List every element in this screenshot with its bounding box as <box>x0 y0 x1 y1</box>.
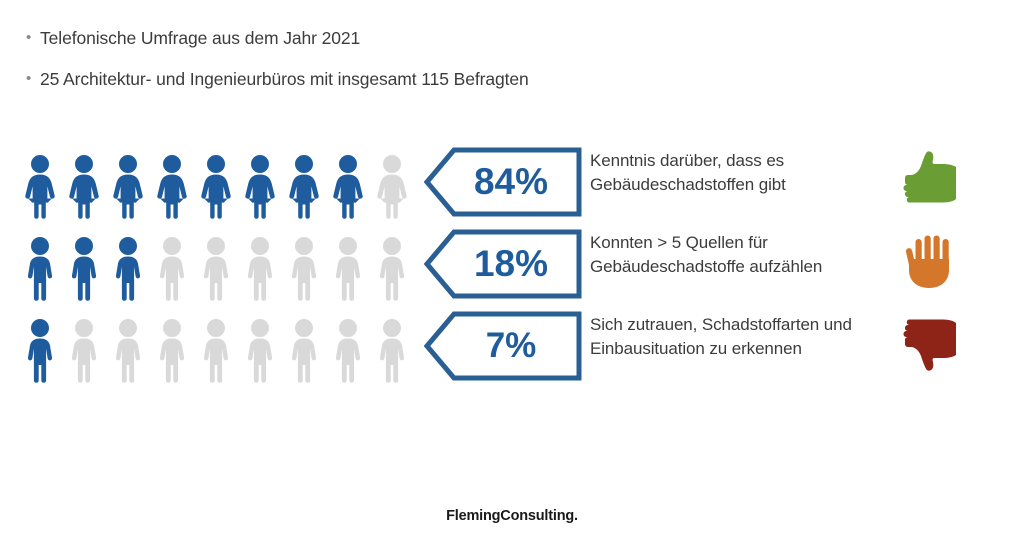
footer-logo: FlemingConsulting. <box>0 508 1024 524</box>
percentage-callout: 84% <box>424 147 582 217</box>
person-icon-filled <box>66 236 102 302</box>
thumbs-down-icon <box>898 308 970 380</box>
raised-hand-icon <box>898 226 970 298</box>
row-description: Konnten > 5 Quellen für Gebäudeschadstof… <box>590 231 890 279</box>
description-line: Konnten > 5 Quellen für <box>590 231 890 255</box>
person-icon-empty <box>242 236 278 302</box>
thumbs-up-glyph <box>898 144 970 216</box>
person-icon-filled <box>110 154 146 220</box>
percentage-value: 84% <box>450 147 572 217</box>
male-figure-glyph <box>286 236 322 302</box>
person-icon-empty <box>198 318 234 384</box>
female-figure-glyph <box>198 154 234 220</box>
male-figure-glyph <box>22 236 58 302</box>
male-figure-glyph <box>154 236 190 302</box>
person-icon-empty <box>154 318 190 384</box>
list-item: • Telefonische Umfrage aus dem Jahr 2021 <box>26 27 826 49</box>
person-icon-filled <box>22 236 58 302</box>
person-icon-empty <box>330 318 366 384</box>
person-icon-empty <box>110 318 146 384</box>
person-icon-filled <box>22 154 58 220</box>
pictogram-row: 7% Sich zutrauen, Schadstoffarten und Ei… <box>0 304 1024 386</box>
person-icon-filled <box>286 154 322 220</box>
male-figure-glyph <box>154 318 190 384</box>
male-figure-glyph <box>374 318 410 384</box>
list-item: • 25 Architektur- und Ingenieurbüros mit… <box>26 68 826 90</box>
pictogram-row: 18% Konnten > 5 Quellen für Gebäudeschad… <box>0 222 1024 304</box>
female-figure-glyph <box>242 154 278 220</box>
percentage-value: 7% <box>450 311 572 381</box>
female-figure-glyph <box>286 154 322 220</box>
person-icon-empty <box>286 318 322 384</box>
female-figure-glyph <box>66 154 102 220</box>
male-figure-glyph <box>330 318 366 384</box>
person-icon-empty <box>66 318 102 384</box>
person-icon-filled <box>330 154 366 220</box>
person-icon-filled <box>198 154 234 220</box>
person-icon-empty <box>374 236 410 302</box>
person-icon-empty <box>286 236 322 302</box>
person-icon-empty <box>374 318 410 384</box>
female-figure-glyph <box>374 154 410 220</box>
person-icon-filled <box>110 236 146 302</box>
thumbs-up-icon <box>898 144 970 216</box>
description-line: Gebäudeschadstoffen gibt <box>590 173 890 197</box>
male-figure-glyph <box>110 236 146 302</box>
bullet-text: 25 Architektur- und Ingenieurbüros mit i… <box>40 68 529 90</box>
male-figure-glyph <box>198 236 234 302</box>
row-description: Kenntnis darüber, dass es Gebäudeschadst… <box>590 149 890 197</box>
female-figure-glyph <box>154 154 190 220</box>
person-icon-empty <box>154 236 190 302</box>
percentage-value: 18% <box>450 229 572 299</box>
pictogram-chart: 84% Kenntnis darüber, dass es Gebäudesch… <box>0 140 1024 386</box>
person-icon-filled <box>242 154 278 220</box>
male-figure-glyph <box>286 318 322 384</box>
person-icon-filled <box>66 154 102 220</box>
pictogram-row: 84% Kenntnis darüber, dass es Gebäudesch… <box>0 140 1024 222</box>
male-figure-glyph <box>22 318 58 384</box>
male-figure-glyph <box>374 236 410 302</box>
person-icon-filled <box>154 154 190 220</box>
female-figure-glyph <box>22 154 58 220</box>
male-figure-glyph <box>110 318 146 384</box>
percentage-callout: 18% <box>424 229 582 299</box>
raised-hand-glyph <box>898 226 970 298</box>
female-figure-glyph <box>330 154 366 220</box>
percentage-callout: 7% <box>424 311 582 381</box>
description-line: Gebäudeschadstoffe aufzählen <box>590 255 890 279</box>
person-icon-empty <box>330 236 366 302</box>
male-figure-glyph <box>66 318 102 384</box>
male-figure-glyph <box>330 236 366 302</box>
bullet-marker-icon: • <box>26 27 40 49</box>
female-figure-glyph <box>110 154 146 220</box>
male-figure-glyph <box>198 318 234 384</box>
people-strip <box>22 304 410 384</box>
bullet-text: Telefonische Umfrage aus dem Jahr 2021 <box>40 27 360 49</box>
person-icon-empty <box>242 318 278 384</box>
row-description: Sich zutrauen, Schadstoffarten und Einba… <box>590 313 890 361</box>
bullet-marker-icon: • <box>26 68 40 90</box>
description-line: Einbausituation zu erkennen <box>590 337 890 361</box>
male-figure-glyph <box>242 236 278 302</box>
person-icon-empty <box>198 236 234 302</box>
intro-bullet-list: • Telefonische Umfrage aus dem Jahr 2021… <box>26 27 826 109</box>
description-line: Kenntnis darüber, dass es <box>590 149 890 173</box>
male-figure-glyph <box>66 236 102 302</box>
person-icon-filled <box>22 318 58 384</box>
person-icon-empty <box>374 154 410 220</box>
thumbs-down-glyph <box>898 308 970 380</box>
male-figure-glyph <box>242 318 278 384</box>
people-strip <box>22 222 410 302</box>
description-line: Sich zutrauen, Schadstoffarten und <box>590 313 890 337</box>
people-strip <box>22 140 410 220</box>
